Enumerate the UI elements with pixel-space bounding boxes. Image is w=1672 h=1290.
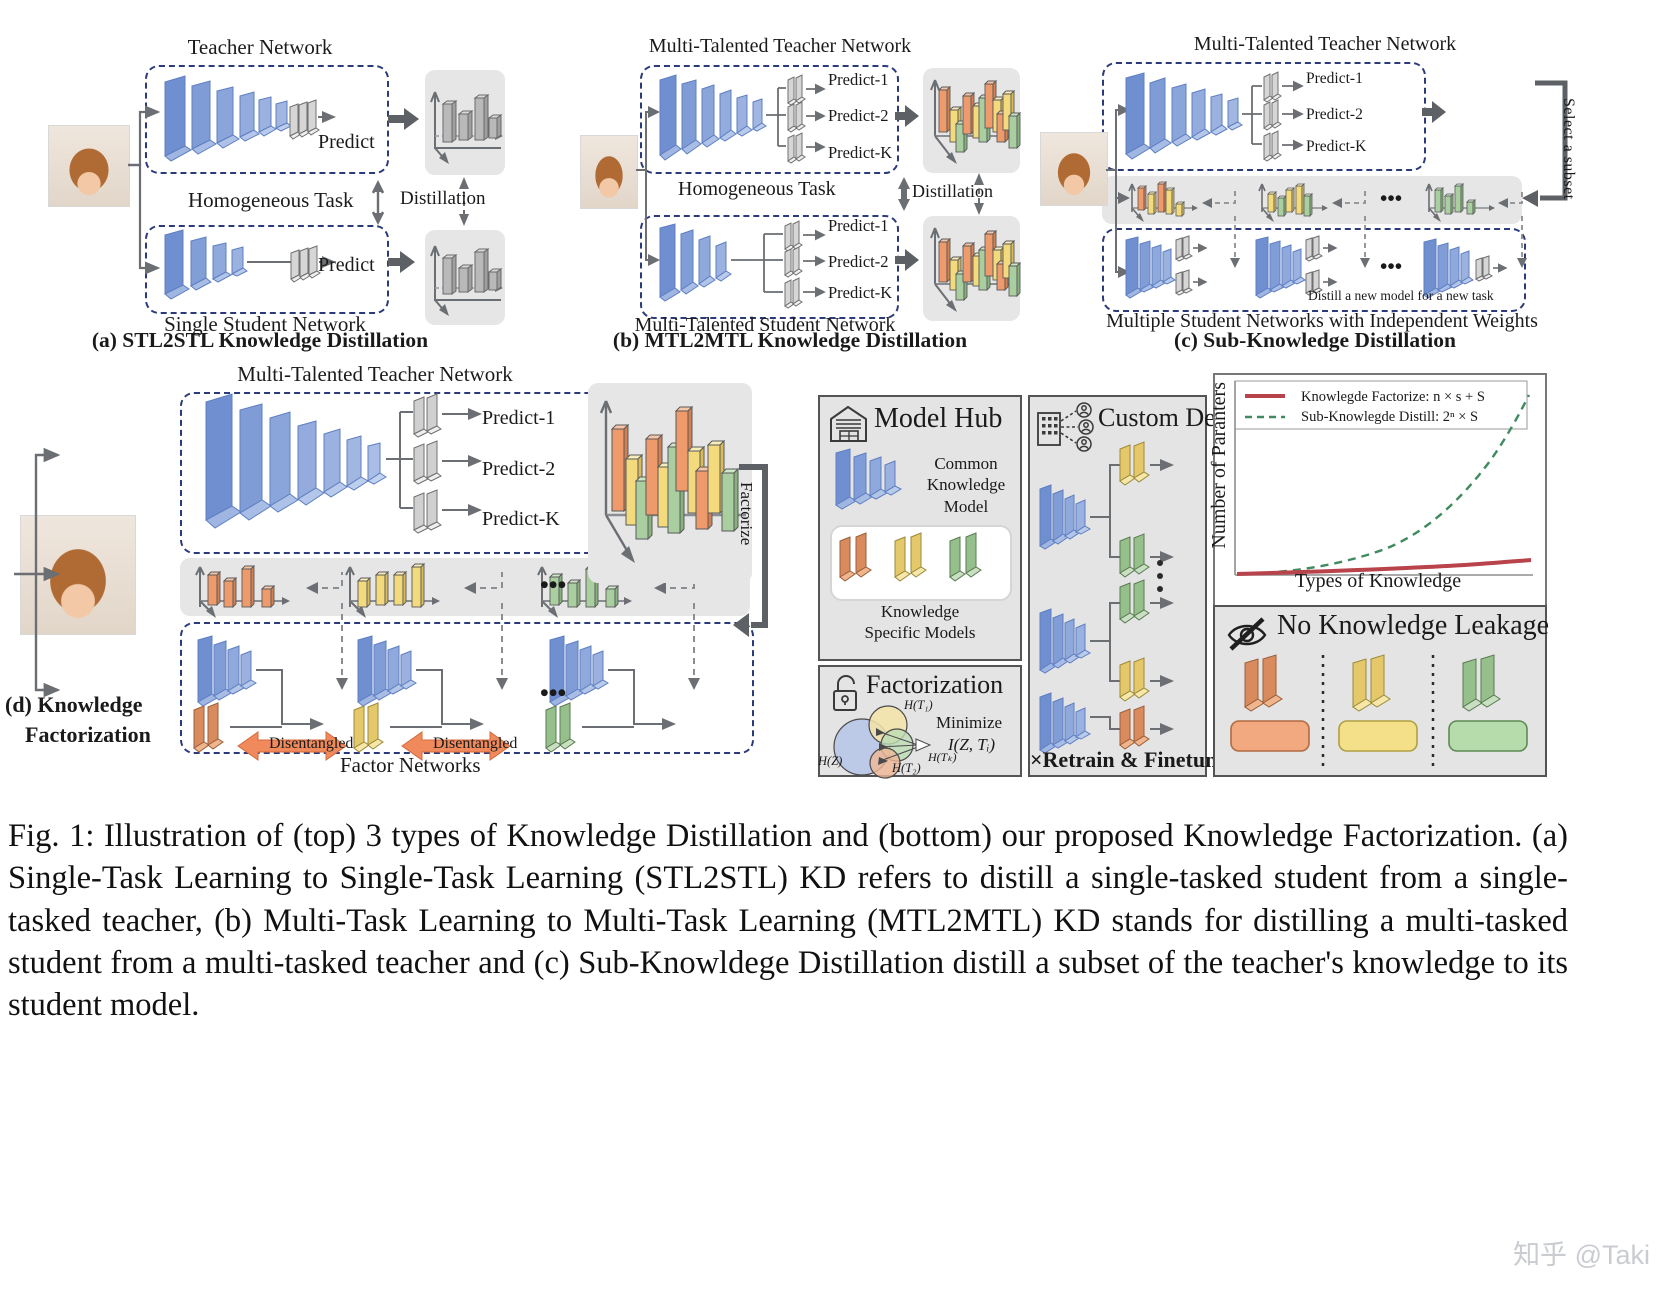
panel-b-student-head-2: Predict-2 [828,252,888,272]
factorization-panel: Factorization H(T₁) Minimize I(Z, Tᵢ) H(… [818,665,1022,777]
panel-d-caption-line1: (d) Knowledge [5,692,143,718]
venn-label-tk: H(Tₖ) [928,750,956,765]
panel-b-middle-label: Homogeneous Task [678,178,836,201]
panel-c-ellipsis-students: ••• [1380,254,1402,279]
custom-deploy-panel: Custom Deploy [1028,395,1207,777]
panel-d-bottom-label: Factor Networks [340,753,481,778]
panel-b-head-k: Predict-K [828,143,892,163]
common-model-line-1: Common [916,453,1016,474]
panel-b-head-1: Predict-1 [828,70,888,90]
panel-c-ellipsis-strip: ••• [1380,186,1402,211]
figure-caption: Fig. 1: Illustration of (top) 3 types of… [8,815,1568,1026]
eye-slash-icon [1225,615,1271,653]
venn-label-t2: H(T₂) [892,761,921,776]
panel-d-ellipsis-strip: ••• [540,572,566,600]
panel-d-teacher-logits-chart [588,383,752,583]
no-leakage-title: No Knowledge Leakage [1277,610,1549,642]
no-leakage-panel: No Knowledge Leakage [1213,605,1547,777]
panel-a-middle-label: Homogeneous Task [188,188,354,213]
venn-label-t1: H(T₁) [904,698,933,713]
common-model-line-2: Knowledge [916,474,1016,495]
teacher-head-a [290,100,319,139]
warehouse-icon [828,403,870,445]
panel-d-head-1: Predict-1 [482,407,555,430]
panel-c: Multi-Talented Teacher Network [1040,20,1672,330]
student-conv-blocks-a [165,230,247,299]
panel-a-right-label: Distillation [400,188,486,210]
venn-label-z: H(Z) [818,754,842,769]
chart-legend-item-0: Knowlegde Factorize: n × s + S [1301,389,1485,406]
panel-c-head-2: Predict-2 [1306,106,1363,124]
factorization-title: Factorization [866,670,1003,700]
panel-d-ellipsis-nets: ••• [540,680,566,708]
specific-models-line-2: Specific Models [820,622,1020,643]
student-logits-chart-a [425,230,505,325]
panel-a: Teacher Network [0,20,520,330]
teacher-logits-chart-b [923,68,1020,173]
chart-ylabel: Number of Paranters [1208,382,1231,549]
model-hub-panel: Model Hub Common Knowledge Model Knowled… [818,395,1022,661]
panel-b-student-head-k: Predict-K [828,283,892,303]
panel-d-caption-line2: Factorization [25,722,151,748]
panel-d-disentangled-1: Disentangled [269,735,353,753]
panel-c-head-k: Predict-K [1306,138,1366,156]
panel-b-head-2: Predict-2 [828,106,888,126]
student-head-a [291,246,320,282]
building-users-icon [1034,401,1100,451]
panel-d-disentangled-2: Disentangled [433,735,517,753]
student-logits-chart-b [923,216,1020,321]
specific-models-line-1: Knowledge [820,601,1020,622]
panel-d-head-2: Predict-2 [482,458,555,481]
teacher-logits-chart-a [425,70,505,175]
panel-d-head-k: Predict-K [482,508,560,531]
panel-a-student-predict: Predict [318,254,375,277]
panel-c-side-label: Select a subset [1559,98,1577,200]
panel-b: Multi-Talented Teacher Network [580,20,1000,330]
chart-xlabel: Types of Knowledge [1213,570,1543,593]
watermark: 知乎 @Taki [1513,1233,1650,1272]
teacher-conv-blocks-a [165,76,291,161]
figure-root: Teacher Network [0,0,1672,1290]
chart-legend-item-1: Sub-Knowlegde Distill: 2ⁿ × S [1301,409,1478,426]
panel-c-caption: (c) Sub-Knowledge Distillation [1075,328,1555,353]
factorize-label: Factorize [736,482,756,545]
minimize-label: Minimize [936,713,1002,733]
panel-b-caption: (b) MTL2MTL Knowledge Distillation [560,328,1020,353]
panel-c-head-1: Predict-1 [1306,70,1363,88]
common-knowledge-model-icon [830,449,920,519]
panel-b-student-head-1: Predict-1 [828,216,888,236]
panel-c-graphics [1040,20,1672,330]
custom-deploy-footer: ×Retrain & Finetune [1030,747,1205,773]
panel-a-teacher-predict: Predict [318,131,375,154]
model-hub-title: Model Hub [874,403,1002,435]
no-leakage-graphics [1215,655,1545,773]
common-model-line-3: Model [916,496,1016,517]
panel-c-inner-note: Distill a new model for a new task [1308,288,1494,304]
panel-b-right-label: Distillation [912,181,993,202]
knowledge-specific-models-icons [834,529,1008,595]
custom-deploy-graph [1032,445,1204,735]
panel-a-caption: (a) STL2STL Knowledge Distillation [30,328,490,353]
